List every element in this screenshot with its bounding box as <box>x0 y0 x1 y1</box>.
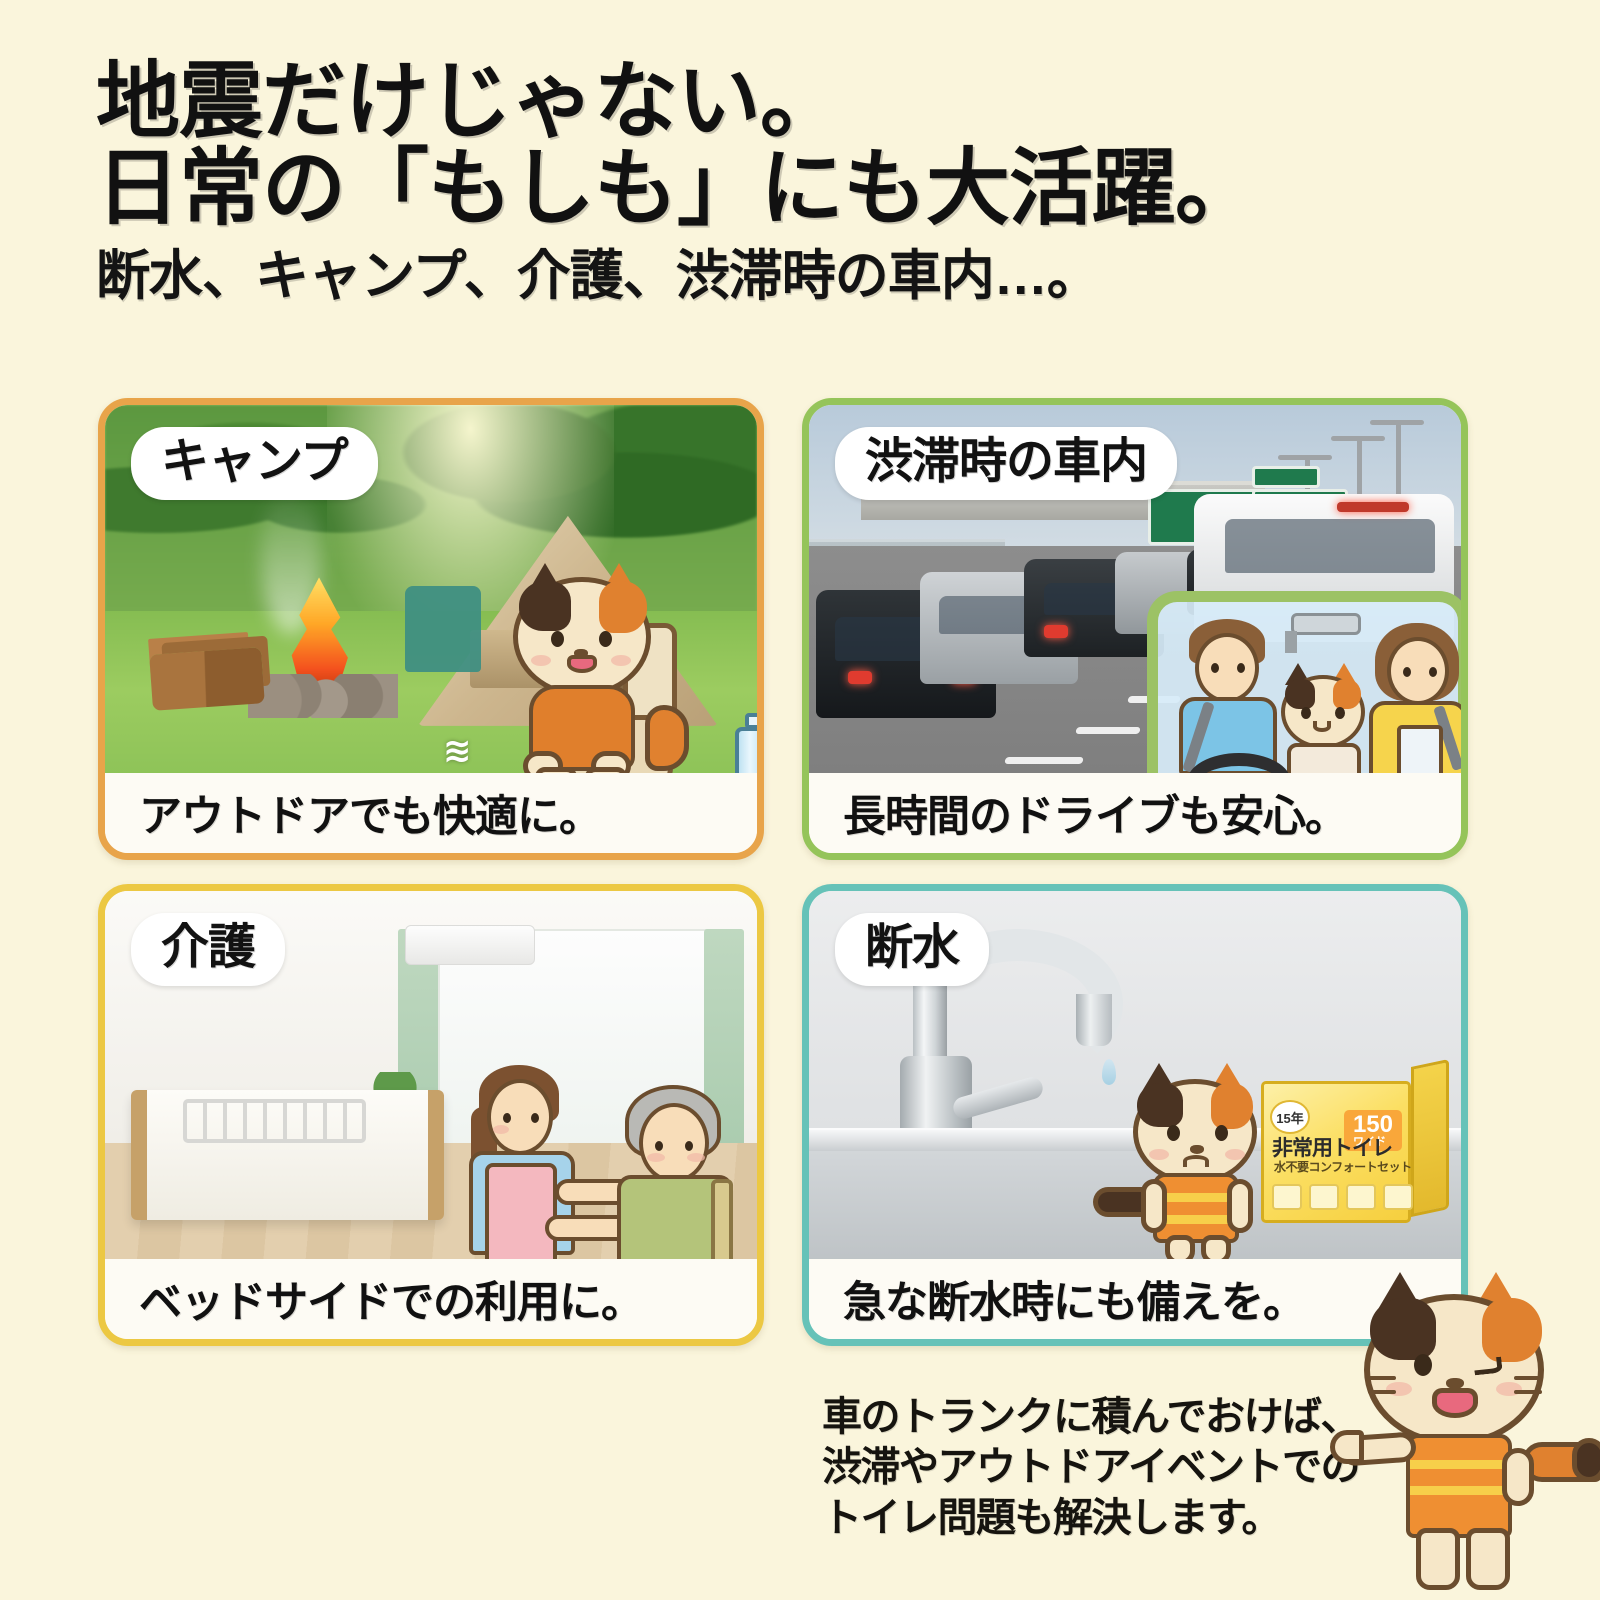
card-traffic[interactable]: 渋滞時の車内 長時間のドライブも安心。 <box>802 398 1468 860</box>
mascot-vest <box>1406 1434 1512 1538</box>
mascot-leg-left <box>1416 1528 1460 1590</box>
footer-line-3: トイレ問題も解決します。 <box>822 1493 1382 1543</box>
mascot-eye-open <box>1414 1354 1432 1376</box>
card-care-badge: 介護 <box>131 913 285 986</box>
card-care-caption-bar: ベッドサイドでの利用に。 <box>105 1259 757 1339</box>
product-badge: 15年 <box>1270 1100 1310 1134</box>
footer-text-block: 車のトランクに積んでおけば、 渋滞やアウトドアイベントでの トイレ問題も解決しま… <box>822 1392 1382 1543</box>
mascot-leg-right <box>1466 1528 1510 1590</box>
product-subtitle: 水不要コンフォートセット <box>1274 1158 1412 1175</box>
card-camp-badge: キャンプ <box>131 427 378 500</box>
card-camp[interactable]: ≋ キャンプ アウトドアでも快適に。 <box>98 398 764 860</box>
card-care[interactable]: 介護 ベッドサイドでの利用に。 <box>98 884 764 1346</box>
card-traffic-caption-bar: 長時間のドライブも安心。 <box>809 773 1461 853</box>
headline-line-1: 地震だけじゃない。 <box>96 58 1356 145</box>
footer-line-1: 車のトランクに積んでおけば、 <box>822 1392 1382 1442</box>
subheadline: 断水、キャンプ、介護、渋滞時の車内…。 <box>96 247 1356 306</box>
card-traffic-badge: 渋滞時の車内 <box>835 427 1177 500</box>
headline-block: 地震だけじゃない。 日常の「もしも」にも大活躍。 断水、キャンプ、介護、渋滞時の… <box>96 58 1356 306</box>
stink-lines-icon: ≋ <box>443 731 472 771</box>
mascot-mouth <box>1432 1388 1478 1418</box>
mascot-cat-illustration <box>1332 1258 1600 1600</box>
use-case-card-grid: ≋ キャンプ アウトドアでも快適に。 <box>98 398 1498 1346</box>
headline-line-2: 日常の「もしも」にも大活躍。 <box>96 145 1356 232</box>
footer-line-2: 渋滞やアウトドアイベントでの <box>822 1442 1382 1492</box>
card-water-outage-badge: 断水 <box>835 913 989 986</box>
card-camp-caption-bar: アウトドアでも快適に。 <box>105 773 757 853</box>
product-box-illustration: 15年 150ワイド 非常用トイレ 水不要コンフォートセット <box>1261 1067 1449 1223</box>
